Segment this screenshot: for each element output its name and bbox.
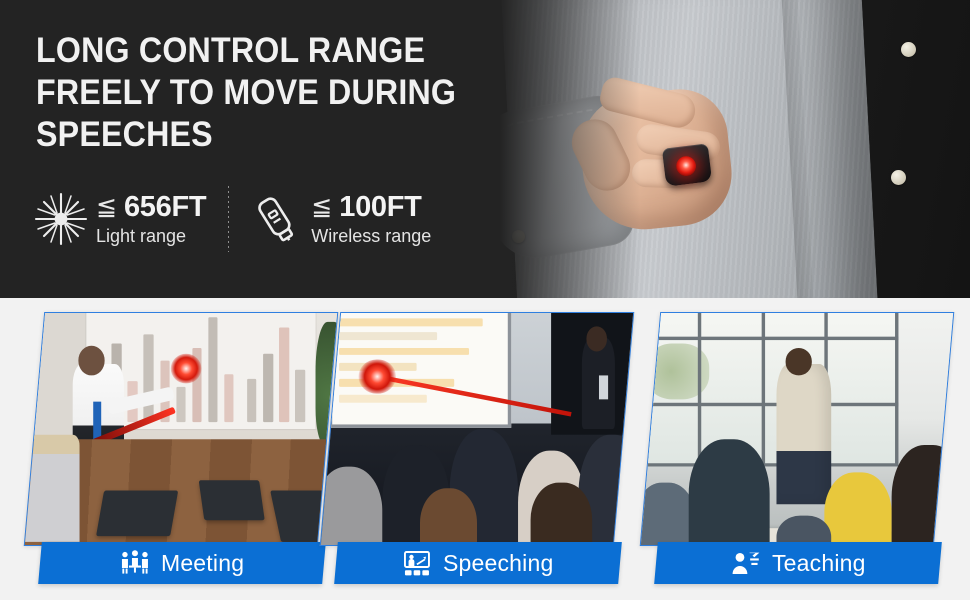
shirt-button-icon [901,42,916,57]
panel-label: Meeting [161,552,244,575]
panel-label: Teaching [772,552,866,575]
spec-value: 100FT [339,193,421,222]
product-feature-banner: LONG CONTROL RANGE FREELY TO MOVE DURING… [0,0,970,600]
comparator-symbol: ≦ [96,195,117,220]
spec-wireless-range: ≦ 100FT Wireless range [245,188,431,250]
spec-light-range-text: ≦ 656FT Light range [96,193,206,245]
laser-led-indicator [675,155,697,177]
spec-value: 656FT [124,193,206,222]
use-case-panel-speeching[interactable]: Speeching [330,312,622,580]
page-title: LONG CONTROL RANGE FREELY TO MOVE DURING… [36,30,468,156]
hero-product-photo [450,0,970,298]
spec-wireless-range-text: ≦ 100FT Wireless range [311,193,431,245]
laser-starburst-icon [30,188,92,250]
people-at-table-icon [120,550,150,577]
spec-row: ≦ 656FT Light range [30,186,431,252]
spec-divider [228,186,229,252]
panel-label-bar-meeting[interactable]: Meeting [38,542,326,584]
spec-light-range: ≦ 656FT Light range [30,188,206,250]
spec-label: Light range [96,227,206,245]
meeting-room-presentation-photo [24,312,338,546]
shirt-button-icon [891,170,906,185]
comparator-symbol: ≦ [311,195,332,220]
presenter-whiteboard-audience-icon [402,550,432,577]
classroom-teaching-photo [640,312,954,546]
person-board-icon [731,550,761,577]
presenter-device [662,143,712,186]
use-case-panel-teaching[interactable]: Teaching [650,312,942,580]
panel-label-bar-teaching[interactable]: Teaching [654,542,942,584]
hero-section: LONG CONTROL RANGE FREELY TO MOVE DURING… [0,0,970,298]
panel-label: Speeching [443,552,554,575]
usb-receiver-icon [245,188,307,250]
use-case-panel-meeting[interactable]: Meeting [34,312,326,580]
use-case-panels: Meeting [0,298,970,600]
hero-copy: LONG CONTROL RANGE FREELY TO MOVE DURING… [36,30,506,156]
spec-label: Wireless range [311,227,431,245]
panel-label-bar-speeching[interactable]: Speeching [334,542,622,584]
conference-speech-audience-photo [320,312,634,546]
